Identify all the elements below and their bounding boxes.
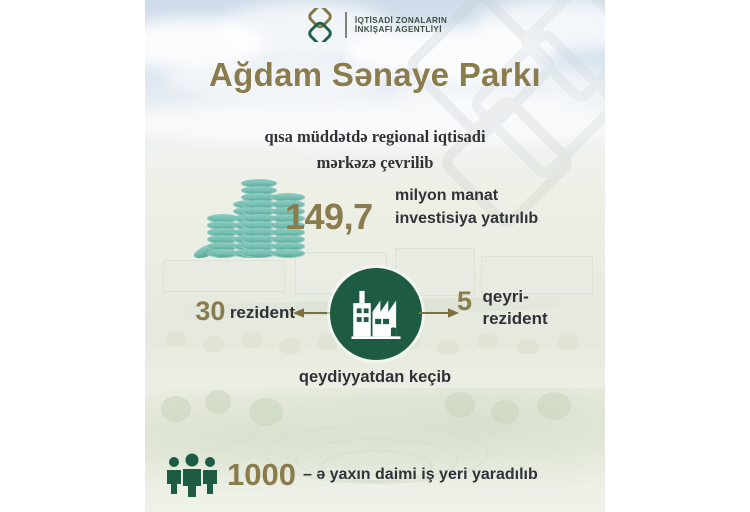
agency-name: İQTİSADİ ZONALARIN İNKİŞAFI AGENTLİYİ [355, 16, 447, 34]
jobs-label: – ə yaxın daimi iş yeri yaradılıb [303, 466, 538, 484]
arrow-right-icon [419, 306, 459, 320]
infographic-poster: İQTİSADİ ZONALARIN İNKİŞAFI AGENTLİYİ Ağ… [145, 0, 605, 512]
page-subtitle-line2: mərkəzə çevrilib [145, 150, 605, 176]
investment-label-line1: milyon manat [395, 184, 605, 207]
investment-stat: 149,7 milyon manat investisiya yatırılıb [145, 178, 605, 258]
investment-label: milyon manat investisiya yatırılıb [395, 184, 605, 230]
page-subtitle: qısa müddətdə regional iqtisadi mərkəzə … [145, 124, 605, 175]
jobs-count: 1000 [227, 457, 296, 493]
logo-divider [345, 12, 347, 38]
non-resident-count: 5 [457, 286, 472, 316]
non-resident-label-line2: rezident [482, 308, 547, 330]
registration-caption: qeydiyyatdan keçib [145, 368, 605, 387]
non-resident-stat: 5 qeyri- rezident [457, 286, 605, 330]
resident-count: 30 [195, 296, 225, 326]
resident-label: rezident [230, 303, 295, 322]
infographic-canvas: İQTİSADİ ZONALARIN İNKİŞAFI AGENTLİYİ Ağ… [0, 0, 750, 512]
factory-icon [330, 268, 422, 360]
investment-amount: 149,7 [285, 196, 373, 238]
agency-name-line1: İQTİSADİ ZONALARIN [355, 16, 447, 25]
non-resident-label: qeyri- rezident [482, 286, 547, 330]
resident-stat: 30 rezident [155, 296, 295, 327]
investment-label-line2: investisiya yatırılıb [395, 207, 605, 230]
page-subtitle-line1: qısa müddətdə regional iqtisadi [145, 124, 605, 150]
arrow-left-icon [293, 306, 333, 320]
jobs-stat: 1000 – ə yaxın daimi iş yeri yaradılıb [145, 450, 605, 500]
interlocking-diamonds-logo-icon [303, 8, 337, 42]
people-group-icon [163, 453, 221, 497]
agency-logo: İQTİSADİ ZONALARIN İNKİŞAFI AGENTLİYİ [145, 8, 605, 42]
page-title: Ağdam Sənaye Parkı [145, 56, 605, 94]
non-resident-label-line1: qeyri- [482, 286, 547, 308]
agency-name-line2: İNKİŞAFI AGENTLİYİ [355, 25, 447, 34]
